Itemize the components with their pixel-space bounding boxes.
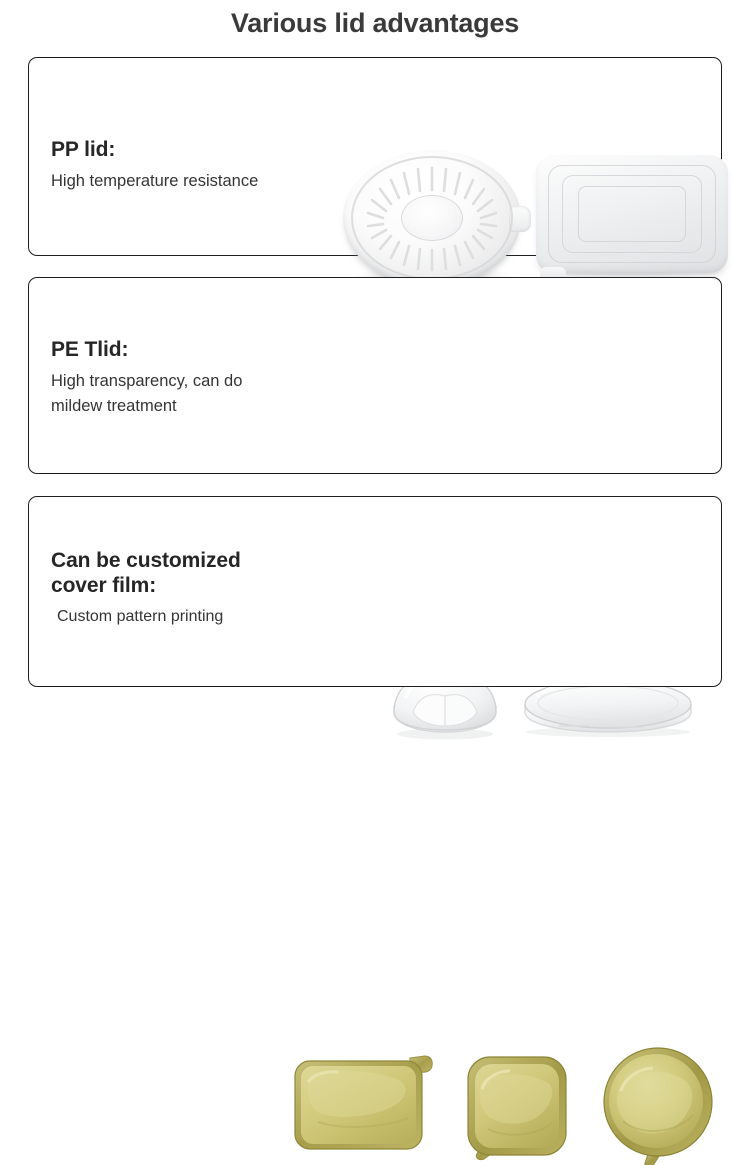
panel-film-heading: Can be customized cover film: xyxy=(51,549,241,599)
panel-cover-film: Can be customized cover film: Custom pat… xyxy=(28,496,722,687)
page-title: Various lid advantages xyxy=(0,8,750,39)
panel-pp-lid: PP lid: High temperature resistance xyxy=(28,57,722,256)
infographic-page: Various lid advantages PP lid: High temp… xyxy=(0,0,750,713)
panel-pp-text-block: PP lid: High temperature resistance xyxy=(51,138,258,194)
product-square-gold-foil-lid xyxy=(464,1053,572,1163)
round-lid-center-hub xyxy=(401,195,463,241)
panel-film-text-block: Can be customized cover film: Custom pat… xyxy=(51,549,241,629)
product-round-ribbed-pp-lid xyxy=(339,146,529,296)
panel-pe-text-block: PE Tlid: High transparency, can do milde… xyxy=(51,338,242,418)
panel-pe-subtitle: High transparency, can do mildew treatme… xyxy=(51,369,242,419)
panel-pp-heading: PP lid: xyxy=(51,138,258,163)
panel-pp-subtitle: High temperature resistance xyxy=(51,169,258,194)
product-rectangular-gold-foil-lid xyxy=(292,1052,442,1156)
product-round-gold-foil-lid xyxy=(601,1047,719,1165)
panel-pe-lid: PE Tlid: High transparency, can do milde… xyxy=(28,277,722,474)
panel-film-subtitle: Custom pattern printing xyxy=(51,605,241,629)
panel-pe-heading: PE Tlid: xyxy=(51,338,242,363)
rect-lid-ridge-inner xyxy=(578,186,686,242)
product-rectangular-pp-lid xyxy=(534,153,734,283)
